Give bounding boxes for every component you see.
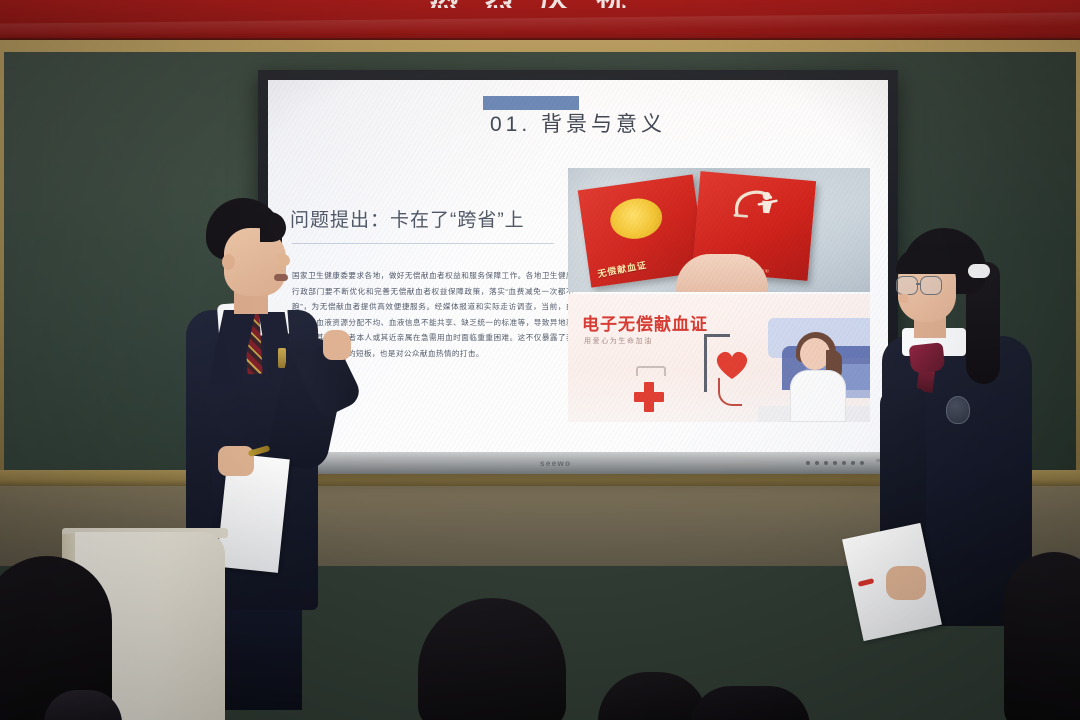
- indicator-dot: [815, 461, 819, 465]
- display-screen[interactable]: 01. 背景与意义 问题提出：卡在了“跨省”上 国家卫生健康委要求各地，做好无偿…: [268, 80, 888, 452]
- blood-donation-logo-icon: [730, 184, 783, 230]
- female-school-crest: [946, 396, 970, 424]
- bezel-indicator-lights: [806, 461, 864, 465]
- female-hair-fringe: [896, 248, 958, 274]
- iv-drip-arm-icon: [704, 334, 730, 337]
- blood-donation-certificate-photo: 无偿献血证 无偿献血证 中华人民共和国卫生健康委员会监制: [568, 168, 870, 292]
- female-nose: [898, 294, 908, 303]
- female-hand: [886, 566, 926, 600]
- female-bow-tie: [909, 342, 946, 373]
- presentation-slide: 01. 背景与意义 问题提出：卡在了“跨省”上 国家卫生健康委要求各地，做好无偿…: [268, 80, 888, 452]
- holding-hand: [676, 254, 768, 292]
- male-hair-fringe: [260, 212, 286, 242]
- banner-glare: [0, 12, 1080, 37]
- indicator-dot: [806, 461, 810, 465]
- indicator-dot: [860, 461, 864, 465]
- red-cross-icon: [634, 382, 664, 412]
- nurse-icon: [790, 370, 846, 422]
- male-nose: [278, 254, 290, 266]
- audience-head: [418, 598, 566, 720]
- medical-kit-icon: [636, 366, 666, 376]
- audience-head: [690, 686, 810, 720]
- indicator-dot: [851, 461, 855, 465]
- electronic-certificate-infographic: 电子无偿献血证 用爱心为生命加油: [568, 294, 870, 422]
- male-mouth: [274, 274, 288, 281]
- glasses-lens-left: [896, 276, 918, 295]
- female-hair-tie: [968, 264, 990, 278]
- slide-title: 01. 背景与意义: [268, 108, 888, 138]
- wall-red-banner: 热烈庆祝: [0, 0, 1080, 42]
- seewo-brand-logo: seewo: [540, 459, 571, 468]
- infographic-subtitle: 用爱心为生命加油: [584, 336, 653, 346]
- iv-drip-pole-icon: [704, 334, 707, 392]
- indicator-dot: [833, 461, 837, 465]
- national-emblem-icon: [608, 195, 665, 242]
- banner-text: 热烈庆祝: [0, 0, 1080, 8]
- indicator-dot: [824, 461, 828, 465]
- iv-tube-icon: [718, 378, 742, 406]
- audience-head: [1004, 552, 1080, 720]
- heart-icon: [714, 348, 750, 380]
- infographic-title: 电子无偿献血证: [582, 310, 708, 335]
- male-ear: [222, 254, 235, 270]
- male-raised-hand: [323, 330, 351, 360]
- glasses-lens-right: [920, 276, 942, 295]
- indicator-dot: [842, 461, 846, 465]
- classroom-presentation-photo: 热烈庆祝 01. 背景与意义 问题提出：卡在了“跨省”上 国家卫生健康委要求各地…: [0, 0, 1080, 720]
- glasses-icon: [896, 276, 944, 294]
